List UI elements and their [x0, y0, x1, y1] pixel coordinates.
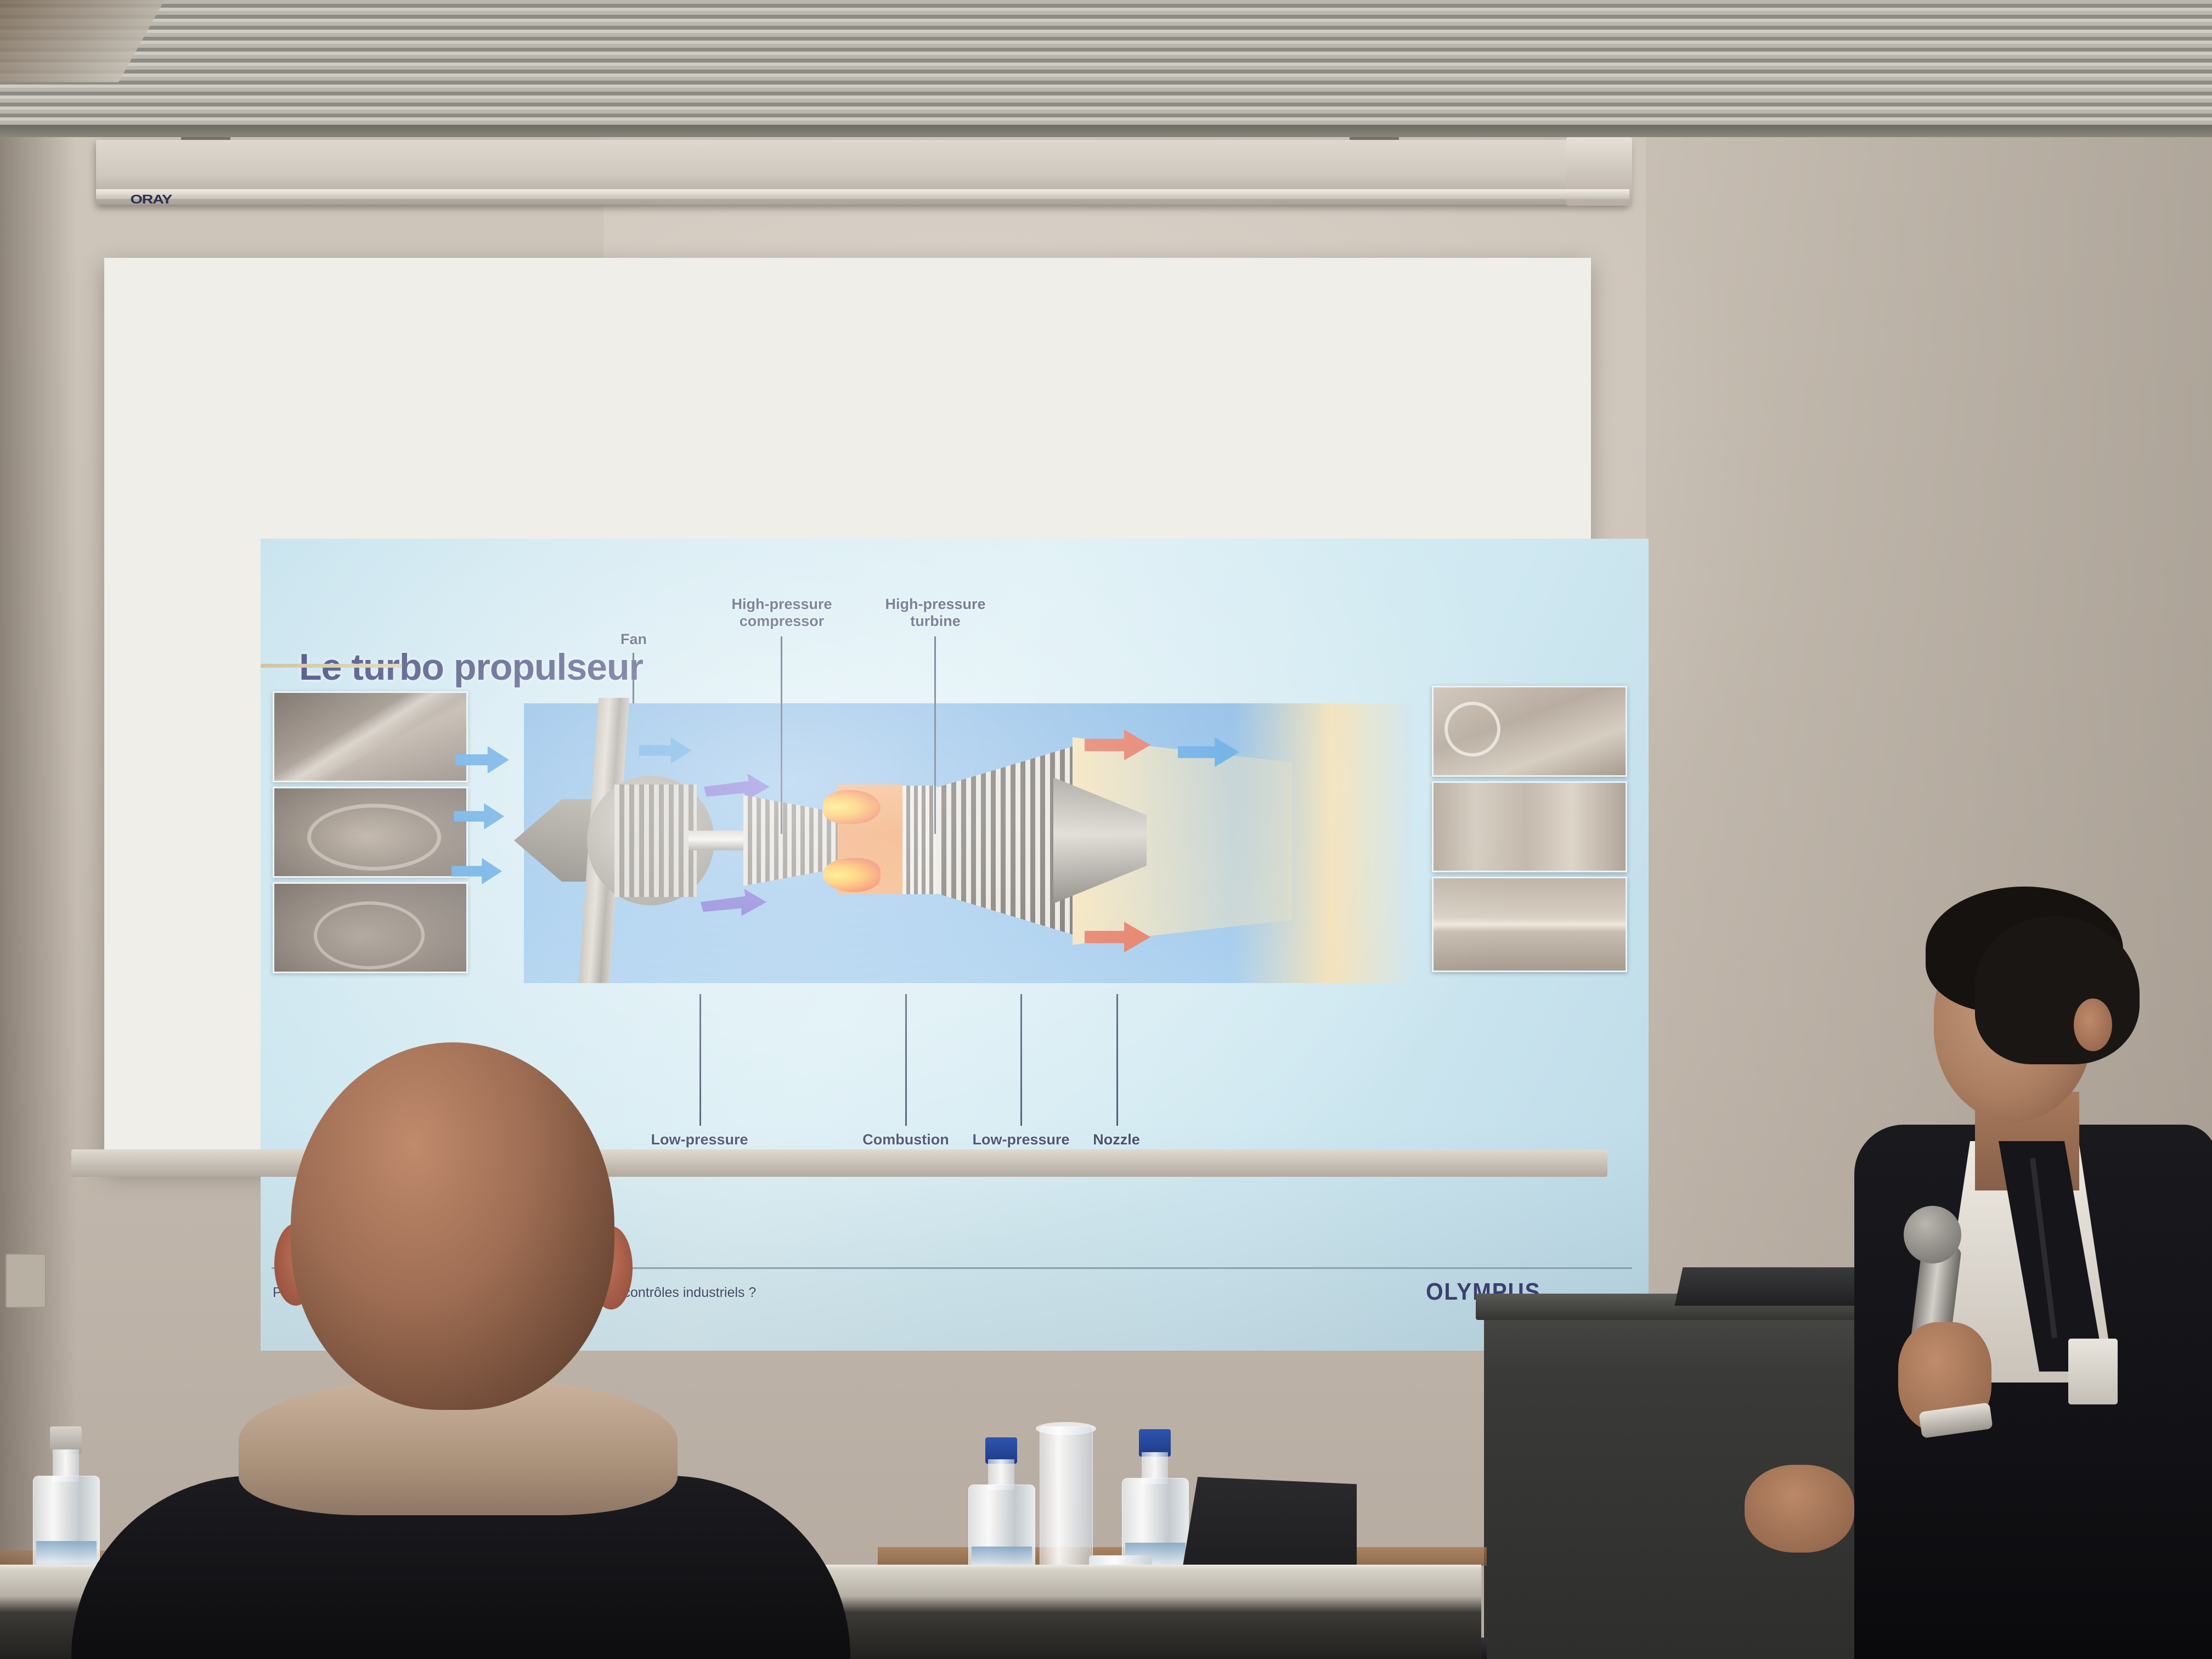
conference-room-photo: ORAY Le turbo propulseur	[0, 0, 2212, 1659]
flame-lower	[823, 858, 881, 892]
projection-screen: Le turbo propulseur	[104, 258, 1591, 1169]
label-hpt-line2: turbine	[853, 613, 1018, 630]
flame-upper	[823, 790, 881, 824]
wall-outlet	[5, 1254, 46, 1308]
label-high-pressure-compressor: High-pressure compressor	[699, 596, 864, 630]
attendee-head	[291, 1042, 614, 1410]
borescope-thumbnail-right-2	[1432, 781, 1627, 872]
oray-brand-logo: ORAY	[130, 192, 171, 207]
borescope-thumbnail-right-1	[1432, 686, 1627, 777]
borescope-thumbnail-left-1	[273, 691, 468, 782]
turbofan-engine-diagram	[524, 703, 1413, 983]
leader-line-hpc	[781, 636, 782, 834]
label-hpc-line2: compressor	[699, 613, 864, 630]
leader-line-hpt	[934, 636, 936, 834]
leader-line-nozzle	[1116, 994, 1118, 1126]
label-fan: Fan	[590, 631, 678, 648]
presenter	[1838, 883, 2212, 1659]
leader-line-lpt	[1020, 994, 1022, 1126]
borescope-thumbnail-right-3	[1432, 877, 1627, 972]
label-high-pressure-turbine: High-pressure turbine	[853, 596, 1018, 630]
low-pressure-compressor-stage	[614, 785, 697, 897]
seated-attendee	[71, 1042, 850, 1659]
borescope-thumbnail-left-3	[273, 882, 468, 973]
presenter-ear	[2074, 998, 2112, 1051]
ceiling-slats	[0, 0, 2212, 137]
diagram-right-fade	[1232, 703, 1413, 983]
microphone-head	[1904, 1206, 1961, 1263]
flow-arrow-lower	[701, 889, 766, 918]
label-hpt-line1: High-pressure	[853, 596, 1018, 613]
leader-line-fan	[633, 653, 634, 703]
borescope-thumbnail-left-2	[273, 787, 468, 878]
screen-housing-lip	[96, 189, 1629, 199]
label-nozzle: Nozzle	[1053, 1131, 1180, 1148]
leader-line-combustion	[905, 994, 907, 1126]
title-accent-rule	[261, 664, 402, 668]
high-pressure-turbine-stage	[902, 786, 936, 894]
presenter-second-hand	[1745, 1465, 1854, 1553]
low-pressure-turbine-stage	[936, 746, 1074, 935]
engine-spinner-cone	[514, 799, 596, 882]
presenter-badge	[2068, 1339, 2118, 1404]
bypass-arrow-1	[639, 737, 692, 764]
label-hpc-line1: High-pressure	[699, 596, 864, 613]
